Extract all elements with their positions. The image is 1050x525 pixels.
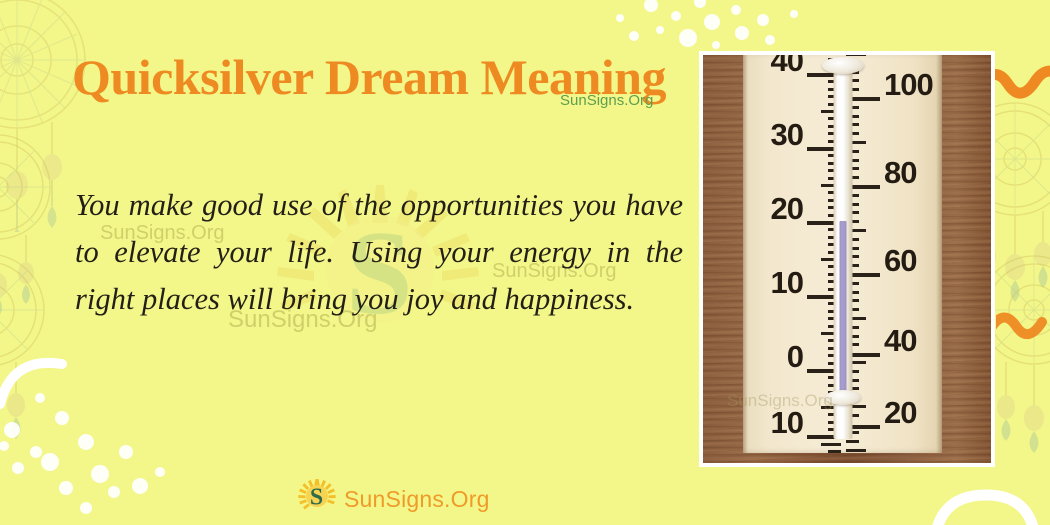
bubble-17 (41, 453, 59, 471)
mercury-column (839, 221, 846, 395)
bubble-16 (55, 411, 69, 425)
bubble-10 (712, 41, 720, 49)
bubble-14 (4, 422, 20, 438)
scale-label-C-5: 10 (771, 407, 803, 438)
bubble-19 (78, 434, 94, 450)
thermometer-photo: 40302010010 10080604020 SunSigns.Org (703, 55, 991, 463)
thermometer-top-cap (822, 57, 864, 74)
bubble-27 (80, 502, 92, 514)
poster-canvas: S SunSigns.OrgSunSigns.OrgSunSigns.OrgSu… (0, 0, 1050, 525)
bubble-13 (629, 31, 639, 41)
scale-label-F-0: 100 (884, 69, 933, 100)
bubble-25 (35, 393, 45, 403)
bubble-24 (132, 478, 148, 494)
bubble-3 (704, 14, 720, 30)
scale-label-C-4: 0 (787, 341, 803, 372)
scale-label-C-2: 20 (771, 193, 803, 224)
tick-minor-F (846, 55, 866, 56)
white-arc-bottom-left (0, 356, 70, 441)
thermometer-face: 40302010010 10080604020 (743, 55, 942, 453)
bubble-8 (757, 14, 769, 26)
bubble-6 (679, 29, 697, 47)
bubble-22 (119, 445, 133, 459)
bubble-0 (644, 0, 658, 12)
bubble-5 (735, 26, 749, 40)
bubble-4 (731, 5, 741, 15)
footer-brand[interactable]: S SunSigns.Org (296, 478, 490, 520)
bubble-26 (0, 441, 9, 451)
body-paragraph: You make good use of the opportunities y… (75, 182, 683, 323)
scale-label-C-0: 40 (771, 55, 803, 76)
orange-wave-ribbon-top (986, 56, 1050, 121)
dreamcatcher-left-bottom-icon (0, 250, 72, 505)
dreamcatcher-left-middle-icon (0, 125, 70, 360)
bubble-1 (671, 11, 681, 21)
bubble-12 (616, 14, 624, 22)
bubble-23 (108, 486, 120, 498)
scale-label-F-3: 40 (884, 325, 916, 356)
tick-minor-F (846, 440, 859, 443)
bubble-15 (30, 446, 42, 458)
footer-brand-text: SunSigns.Org (344, 486, 490, 513)
title-credit: SunSigns.Org (560, 92, 653, 109)
tick-minor-C (828, 450, 841, 453)
bubble-2 (694, 0, 706, 8)
svg-text:S: S (310, 485, 323, 511)
scale-label-F-2: 60 (884, 245, 916, 276)
thermometer-bulb (825, 390, 861, 405)
tick-minor-F (846, 449, 866, 452)
bubble-21 (91, 465, 109, 483)
orange-wave-ribbon-bottom (996, 300, 1050, 360)
bubble-9 (765, 35, 775, 45)
white-arc-bottom-right (928, 463, 1038, 525)
tick-minor-C (821, 443, 841, 446)
scale-label-F-1: 80 (884, 157, 916, 188)
bubble-18 (12, 462, 24, 474)
bubble-7 (656, 26, 664, 34)
scale-label-C-3: 10 (771, 267, 803, 298)
thermometer-photo-frame: 40302010010 10080604020 SunSigns.Org (699, 51, 995, 467)
bubble-11 (790, 10, 798, 18)
bubble-20 (59, 481, 73, 495)
scale-label-C-1: 30 (771, 119, 803, 150)
scale-label-F-4: 20 (884, 397, 916, 428)
bubble-28 (155, 467, 165, 477)
sun-logo-icon: S (296, 478, 338, 520)
